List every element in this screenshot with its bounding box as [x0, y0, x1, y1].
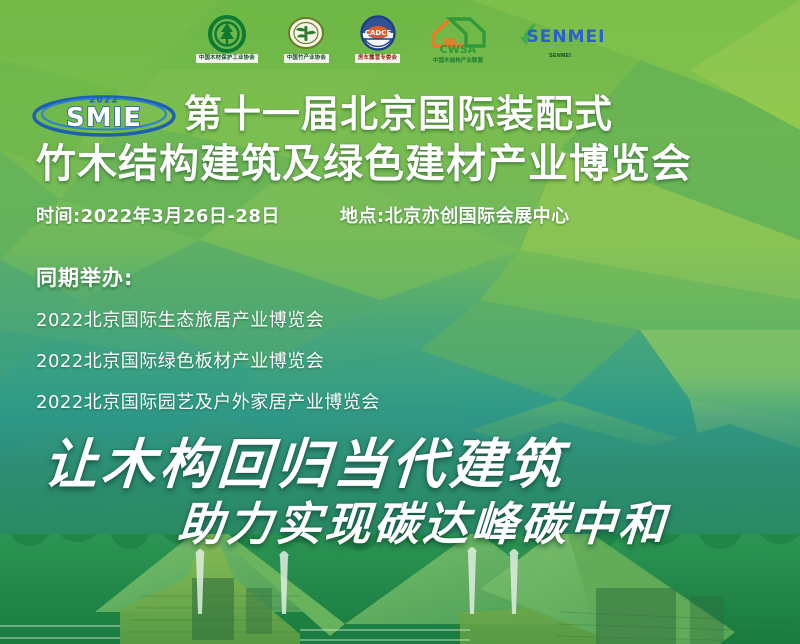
bamboo-seal-icon — [284, 15, 328, 53]
logo-cadce[interactable]: CADCE 房车露营专委会 — [355, 15, 400, 63]
smie-logo: 2022 SMIE — [30, 90, 178, 138]
concurrent-item: 2022北京国际园艺及户外家居产业博览会 — [36, 388, 380, 414]
concurrent-heading: 同期举办: — [36, 262, 380, 292]
senmei-leaf-icon: SENMEI — [516, 17, 604, 51]
cadce-badge-icon: CADCE — [356, 15, 400, 53]
logo-label: 中国木结构产业联盟 — [430, 57, 486, 66]
logo-label: SENMEI — [546, 52, 574, 61]
sponsor-logo-strip: 中国木材保护工业协会 中国竹产业协会 CADCE 房车露营专委会 — [0, 8, 800, 70]
concurrent-item: 2022北京国际生态旅居产业博览会 — [36, 306, 380, 332]
logo-label: 中国木材保护工业协会 — [196, 54, 258, 63]
logo-bamboo-assoc[interactable]: 中国竹产业协会 — [284, 15, 329, 63]
title-line-2: 竹木结构建筑及绿色建材产业博览会 — [0, 144, 800, 184]
svg-text:CADCE: CADCE — [364, 29, 391, 37]
title-line-1: 第十一届北京国际装配式 — [184, 95, 613, 133]
concurrent-item: 2022北京国际绿色板材产业博览会 — [36, 347, 380, 373]
logo-label: 中国竹产业协会 — [284, 54, 329, 63]
concurrent-events-block: 同期举办: 2022北京国际生态旅居产业博览会 2022北京国际绿色板材产业博览… — [36, 262, 380, 429]
event-time: 时间:2022年3月26日-28日 — [36, 202, 280, 228]
logo-label: 房车露营专委会 — [355, 54, 400, 63]
event-meta: 时间:2022年3月26日-28日 地点:北京亦创国际会展中心 — [0, 202, 800, 228]
svg-text:SENMEI: SENMEI — [527, 27, 604, 47]
logo-senmei[interactable]: SENMEI SENMEI — [516, 17, 604, 61]
headline-block: 2022 SMIE 第十一届北京国际装配式 竹木结构建筑及绿色建材产业博览会 — [0, 88, 800, 184]
cwsa-house-icon: CWSA — [426, 12, 490, 56]
svg-text:CWSA: CWSA — [440, 43, 477, 56]
exhibition-poster: 中国木材保护工业协会 中国竹产业协会 CADCE 房车露营专委会 — [0, 0, 800, 644]
logo-cnfpia[interactable]: 中国木材保护工业协会 — [196, 15, 258, 63]
tree-shield-icon — [204, 15, 250, 53]
svg-text:SMIE: SMIE — [66, 103, 142, 133]
slogan-line-2: 助力实现碳达峰碳中和 — [176, 488, 671, 554]
logo-cwsa[interactable]: CWSA 中国木结构产业联盟 — [426, 12, 490, 66]
event-place: 地点:北京亦创国际会展中心 — [340, 202, 570, 228]
